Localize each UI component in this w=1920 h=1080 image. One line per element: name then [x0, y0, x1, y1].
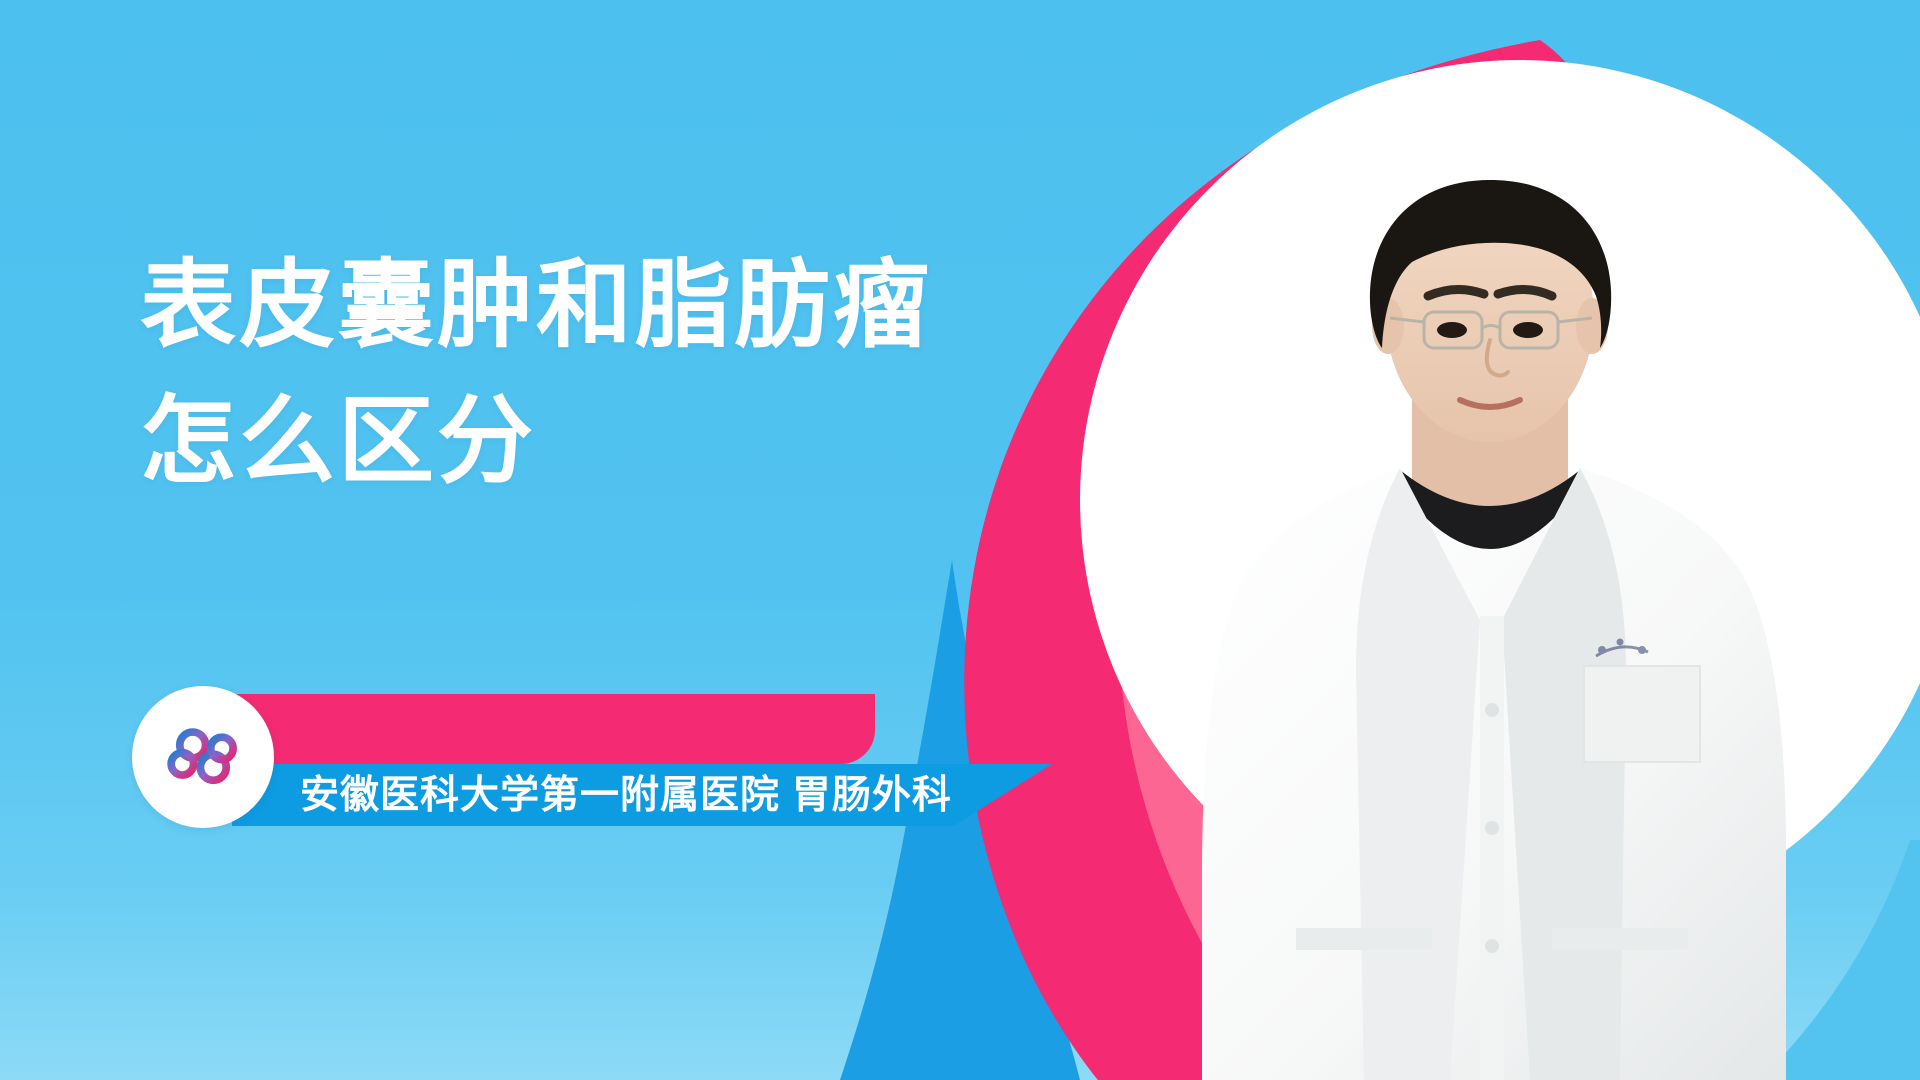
coat-placket — [1480, 616, 1504, 1080]
coat-button-2 — [1485, 821, 1499, 835]
doctor-portrait — [1150, 150, 1870, 1080]
coat-pocket-lower-left — [1296, 928, 1432, 950]
eye-left — [1437, 322, 1467, 338]
title-line-2: 怎么区分 — [140, 374, 1120, 510]
coat-button-1 — [1485, 703, 1499, 717]
name-banner — [235, 694, 875, 764]
coat-pocket-lower-right — [1552, 928, 1688, 950]
title-block: 表皮囊肿和脂肪瘤 怎么区分 — [140, 238, 1120, 511]
coat-button-3 — [1485, 939, 1499, 953]
video-cover-canvas: 表皮囊肿和脂肪瘤 怎么区分 — [0, 0, 1920, 1080]
brand-logo — [132, 686, 274, 828]
coat-pocket — [1584, 666, 1700, 762]
hospital-department-text: 安徽医科大学第一附属医院 胃肠外科 — [300, 773, 952, 819]
credential-block: 张震 · 主任医师 安徽医科大学第一附属医院 胃肠外科 — [132, 686, 1062, 836]
interlocking-loops-logo-icon — [160, 714, 246, 800]
eye-right — [1513, 322, 1543, 338]
title-line-1: 表皮囊肿和脂肪瘤 — [140, 238, 1120, 374]
